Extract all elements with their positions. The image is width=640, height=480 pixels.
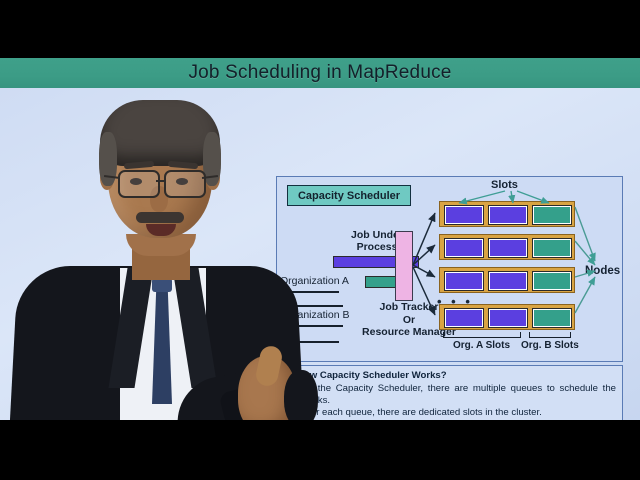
video-title-bar: Job Scheduling in MapReduce — [0, 58, 640, 88]
diagram-arrows — [277, 177, 622, 361]
moustache — [136, 212, 184, 223]
list-item-text: For each queue, there are dedicated slot… — [305, 407, 542, 418]
notes-bullet-list: • In the Capacity Scheduler, there are m… — [283, 383, 616, 420]
video-frame: Job Scheduling in MapReduce Capacity Sch… — [0, 58, 640, 420]
eyeglass-bridge — [156, 180, 166, 182]
eyeglass-lens-right — [164, 170, 206, 198]
presenter — [0, 88, 300, 420]
arm-secondary — [284, 370, 318, 420]
page-title: Job Scheduling in MapReduce — [188, 62, 451, 84]
hair — [100, 100, 220, 166]
eyeglass-lens-left — [118, 170, 160, 198]
list-item: • For each queue, there are dedicated sl… — [283, 407, 616, 419]
whiteboard-background: Capacity Scheduler Slots Nodes Job Under… — [0, 88, 640, 420]
notes-panel: How Capacity Scheduler Works? • In the C… — [276, 365, 623, 420]
capacity-scheduler-diagram: Capacity Scheduler Slots Nodes Job Under… — [276, 176, 623, 362]
necktie-knot — [152, 278, 172, 292]
list-item-text: In the Capacity Scheduler, there are mul… — [305, 383, 616, 406]
list-item: • In the Capacity Scheduler, there are m… — [283, 383, 616, 406]
screen: Job Scheduling in MapReduce Capacity Sch… — [0, 0, 640, 480]
notes-heading: How Capacity Scheduler Works? — [297, 370, 616, 381]
